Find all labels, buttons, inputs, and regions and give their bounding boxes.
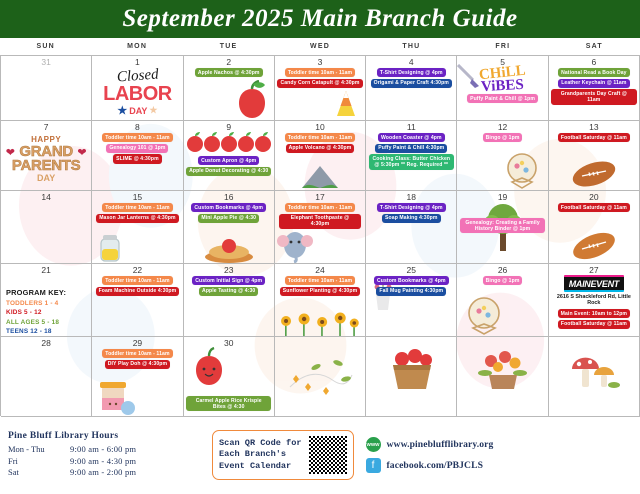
hours-time: 9:00 am - 4:30 pm: [70, 456, 136, 468]
day-number: 12: [498, 122, 507, 132]
day-events: T-Shirt Designing @ 4pm Soap Making 4:30…: [368, 203, 454, 223]
day-cell[interactable]: 12 Bingo @ 1pm: [457, 121, 548, 191]
day-number: 17: [315, 192, 324, 202]
facebook-link[interactable]: f facebook.com/PBJCLS: [366, 458, 494, 473]
day-events: Genealogy: Creating a Family History Bin…: [459, 218, 545, 233]
day-cell[interactable]: 5 CHiLL ViBES Puffy Paint & Chill @ 1pm: [457, 56, 548, 121]
event-pill[interactable]: Leather Keychain @ 11am: [558, 79, 629, 88]
day-cell[interactable]: 24 Toddler time 10am - 11am Sunflower Pl…: [275, 264, 366, 337]
hours-day: Mon - Thu: [8, 444, 70, 456]
qr-instruction-text: Scan QR Code for Each Branch's Event Cal…: [219, 438, 302, 473]
event-pill[interactable]: Genealogy: Creating a Family History Bin…: [460, 218, 545, 233]
event-pill[interactable]: Soap Making 4:30pm: [382, 214, 440, 223]
day-cell[interactable]: 15 Toddler time 10am - 11am Mason Jar La…: [92, 191, 183, 264]
event-pill[interactable]: National Read a Book Day: [558, 68, 630, 77]
facebook-url: facebook.com/PBJCLS: [387, 460, 484, 471]
day-cell[interactable]: 31: [1, 56, 92, 121]
qr-line-1: Scan QR Code for: [219, 438, 302, 450]
day-number: 31: [41, 57, 50, 67]
day-events: Toddler time 10am - 11am Mason Jar Lante…: [94, 203, 180, 223]
fall-flowers-icon: [475, 347, 531, 391]
event-pill[interactable]: Custom Bookmarks @ 4pm: [374, 276, 449, 285]
event-pill[interactable]: T-Shirt Designing @ 4pm: [377, 68, 446, 77]
weekday-tue: TUE: [183, 43, 274, 50]
program-key: PROGRAM KEY: TODDLERS 1 - 4 KIDS 5 - 12 …: [6, 288, 92, 337]
event-pill[interactable]: Wooden Coaster @ 4pm: [378, 133, 445, 142]
mushrooms-icon: [568, 349, 620, 393]
day-number: 13: [589, 122, 598, 132]
event-pill[interactable]: SLIME @ 4:30pm: [113, 154, 162, 163]
day-number: 16: [224, 192, 233, 202]
falling-leaves-icon: [282, 353, 358, 397]
weekday-mon: MON: [91, 43, 182, 50]
event-pill[interactable]: T-Shirt Designing @ 4pm: [377, 203, 446, 212]
day-events: Apple Nachos @ 4:30pm: [186, 68, 272, 77]
qr-code-callout[interactable]: Scan QR Code for Each Branch's Event Cal…: [212, 430, 354, 480]
event-pill[interactable]: Football Saturday @ 11am: [558, 203, 630, 212]
day-cell[interactable]: 8 Toddler time 10am - 11am Genealogy 101…: [92, 121, 183, 191]
football-icon: [570, 160, 618, 188]
day-events: Toddler time 10am - 11am DIY Play Doh @ …: [94, 349, 180, 369]
star-icon: ★: [117, 104, 127, 117]
hours-time: 9:00 am - 6:00 pm: [70, 444, 136, 456]
apple-basket-icon: [385, 343, 437, 393]
day-cell[interactable]: 11 Wooden Coaster @ 4pm Puffy Paint & Ch…: [366, 121, 457, 191]
program-key-item-toddlers: TODDLERS 1 - 4: [6, 299, 92, 308]
day-number: 24: [315, 265, 324, 275]
hours-row: Mon - Thu 9:00 am - 6:00 pm: [8, 444, 204, 456]
event-pill[interactable]: Toddler time 10am - 11am: [102, 203, 172, 212]
day-events: Football Saturday @ 11am: [551, 133, 637, 142]
labor-day-day: DAY: [129, 106, 147, 116]
event-pill[interactable]: Football Saturday @ 11am: [558, 133, 630, 142]
day-number: 1: [135, 57, 140, 67]
website-link[interactable]: WWW www.pineblufflibrary.org: [366, 437, 494, 452]
event-pill[interactable]: Grandparents Day Craft @ 11am: [551, 89, 636, 104]
event-pill[interactable]: Custom Apron @ 4pm: [198, 156, 259, 165]
day-cell[interactable]: 17 Toddler time 10am - 11am Elephant Too…: [275, 191, 366, 264]
day-number: 19: [498, 192, 507, 202]
day-events: Custom Bookmarks @ 4pm Fall Mug Painting…: [368, 276, 454, 296]
day-cell[interactable]: 3 Toddler time 10am - 11am Candy Corn Ca…: [275, 56, 366, 121]
event-pill[interactable]: Fall Mug Painting 4:30pm: [376, 287, 446, 296]
event-pill[interactable]: Main Event: 10am to 12pm: [558, 309, 630, 318]
day-number: 22: [133, 265, 142, 275]
sunflowers-icon: [275, 310, 365, 336]
event-pill[interactable]: Toddler time 10am - 11am: [285, 276, 355, 285]
facebook-icon: f: [366, 458, 381, 473]
day-number: 20: [589, 192, 598, 202]
event-pill[interactable]: Puffy Paint & Chill @ 1pm: [467, 94, 538, 103]
program-key-item-kids: KIDS 5 - 12: [6, 308, 92, 317]
weekday-thu: THU: [366, 43, 457, 50]
week-row: 28 29 Toddler time 10am - 11am DIY Play …: [1, 337, 640, 417]
week-row: 7 HAPPY ❤ GRAND ❤ PARENTS DAY 8 Toddler …: [1, 121, 640, 191]
day-number: 30: [224, 338, 233, 348]
day-number: 4: [409, 57, 414, 67]
week-row: 14 15 Toddler time 10am - 11am Mason Jar…: [1, 191, 640, 264]
day-cell[interactable]: [549, 337, 640, 417]
week-row: 31 1 Closed LABOR ★ DAY ★ 2 Apple Nachos…: [1, 56, 640, 121]
day-cell[interactable]: 22 Toddler time 10am - 11am Foam Machine…: [92, 264, 183, 337]
weekday-sat: SAT: [549, 43, 640, 50]
day-cell[interactable]: 16 Custom Bookmarks @ 4pm Mini Apple Pie…: [184, 191, 275, 264]
event-pill[interactable]: Bingo @ 1pm: [483, 133, 523, 142]
program-key-title: PROGRAM KEY:: [6, 288, 92, 297]
day-cell[interactable]: 14: [1, 191, 92, 264]
event-pill[interactable]: Mason Jar Lanterns @ 4:30pm: [96, 214, 178, 223]
grandparents-day-graphic: HAPPY ❤ GRAND ❤ PARENTS DAY: [6, 134, 87, 184]
event-pill[interactable]: Sunflower Planting @ 4:30pm: [280, 287, 360, 296]
event-pill[interactable]: Puffy Paint & Chill 4:30pm: [375, 144, 447, 153]
day-number: 15: [133, 192, 142, 202]
day-events: Toddler time 10am - 11am Candy Corn Cata…: [277, 68, 363, 88]
event-pill[interactable]: Toddler time 10am - 11am: [285, 133, 355, 142]
day-number: 28: [41, 338, 50, 348]
week-row: 21 PROGRAM KEY: TODDLERS 1 - 4 KIDS 5 - …: [1, 264, 640, 337]
page-footer: Pine Bluff Library Hours Mon - Thu 9:00 …: [0, 416, 640, 494]
event-pill[interactable]: Apple Tasting @ 4:30: [199, 287, 258, 296]
day-number: 9: [226, 122, 231, 132]
event-pill[interactable]: Carmel Apple Rice Krispie Bites @ 4:30: [186, 396, 271, 411]
page-title: September 2025 Main Branch Guide: [122, 5, 517, 33]
qr-line-2: Each Branch's: [219, 449, 302, 461]
labor-day-closed-text: Closed: [116, 67, 159, 87]
day-number: 29: [133, 338, 142, 348]
candy-corn-icon: [329, 89, 363, 119]
day-events: Toddler time 10am - 11am Apple Volcano @…: [277, 133, 363, 153]
event-pill[interactable]: DIY Play Doh @ 4:30pm: [105, 360, 170, 369]
day-cell[interactable]: [366, 337, 457, 417]
event-pill[interactable]: Toddler time 10am - 11am: [102, 349, 172, 358]
day-events: Main Event: 10am to 12pm Football Saturd…: [551, 309, 637, 329]
social-links: WWW www.pineblufflibrary.org f facebook.…: [366, 437, 494, 473]
day-cell[interactable]: 27 MAINEVENT 2616 S Shackleford Rd, Litt…: [549, 264, 640, 337]
day-events: Bingo @ 1pm: [459, 276, 545, 285]
event-pill[interactable]: Toddler time 10am - 11am: [285, 203, 355, 212]
hours-day: Fri: [8, 456, 70, 468]
day-number: 8: [135, 122, 140, 132]
hours-row: Fri 9:00 am - 4:30 pm: [8, 456, 204, 468]
day-cell[interactable]: 18 T-Shirt Designing @ 4pm Soap Making 4…: [366, 191, 457, 264]
day-number: 7: [44, 122, 49, 132]
star-icon: ★: [149, 105, 157, 116]
program-key-item-all-ages: ALL AGES 5 - 18: [6, 318, 92, 327]
day-cell[interactable]: 26 Bingo @ 1pm: [457, 264, 548, 337]
day-number: 21: [41, 265, 50, 275]
day-number: 23: [224, 265, 233, 275]
day-events: Toddler time 10am - 11am Foam Machine Ou…: [94, 276, 180, 296]
event-pill[interactable]: Toddler time 10am - 11am: [285, 68, 355, 77]
event-pill[interactable]: Apple Volcano @ 4:30pm: [286, 144, 355, 153]
day-events: Toddler time 10am - 11am Elephant Toothp…: [277, 203, 363, 229]
day-cell[interactable]: [457, 337, 548, 417]
day-events: Toddler time 10am - 11am Genealogy 101 @…: [94, 133, 180, 164]
day-cell[interactable]: 4 T-Shirt Designing @ 4pm Origami & Pape…: [366, 56, 457, 121]
event-pill[interactable]: Bingo @ 1pm: [483, 276, 523, 285]
apple-pie-icon: [203, 237, 255, 263]
apple-icon: [231, 80, 273, 120]
day-events: Toddler time 10am - 11am Sunflower Plant…: [277, 276, 363, 296]
website-url: www.pineblufflibrary.org: [387, 439, 494, 450]
day-cell[interactable]: 1 Closed LABOR ★ DAY ★: [92, 56, 183, 121]
day-events: Carmel Apple Rice Krispie Bites @ 4:30: [186, 396, 272, 411]
day-number: 27: [589, 265, 598, 275]
bingo-cage-icon: [502, 152, 542, 190]
day-events: T-Shirt Designing @ 4pm Origami & Paper …: [368, 68, 454, 88]
library-hours: Pine Bluff Library Hours Mon - Thu 9:00 …: [8, 431, 204, 479]
day-events: Bingo @ 1pm: [459, 133, 545, 142]
event-pill[interactable]: Apple Donut Decorating @ 4:30: [186, 167, 271, 176]
day-cell[interactable]: 29 Toddler time 10am - 11am DIY Play Doh…: [92, 337, 183, 417]
day-events: Puffy Paint & Chill @ 1pm: [459, 94, 545, 103]
grandparents-line2: PARENTS: [6, 159, 87, 173]
hours-row: Sat 9:00 am - 2:00 pm: [8, 467, 204, 479]
chill-vibes-line2: ViBES: [481, 79, 524, 94]
event-pill[interactable]: Candy Corn Catapult @ 4:30pm: [277, 79, 362, 88]
day-cell[interactable]: 20 Football Saturday @ 11am: [549, 191, 640, 264]
day-cell[interactable]: 19 Genealogy: Creating a Family History …: [457, 191, 548, 264]
football-icon: [570, 231, 618, 261]
day-cell[interactable]: 23 Custom Initial Sign @ 4pm Apple Tasti…: [184, 264, 275, 337]
day-number: 2: [226, 57, 231, 67]
day-number: 3: [318, 57, 323, 67]
day-cell[interactable]: 10 Toddler time 10am - 11am Apple Volcan…: [275, 121, 366, 191]
weekday-sun: SUN: [0, 43, 91, 50]
day-cell[interactable]: 2 Apple Nachos @ 4:30pm: [184, 56, 275, 121]
day-number: 14: [41, 192, 50, 202]
page-header: September 2025 Main Branch Guide: [0, 0, 640, 38]
elephant-icon: [276, 225, 314, 263]
day-number: 11: [407, 122, 416, 132]
globe-icon: WWW: [366, 437, 381, 452]
calendar-grid: 31 1 Closed LABOR ★ DAY ★ 2 Apple Nachos…: [0, 55, 640, 416]
day-events: Custom Bookmarks @ 4pm Mini Apple Pie @ …: [186, 203, 272, 223]
day-cell[interactable]: 21 PROGRAM KEY: TODDLERS 1 - 4 KIDS 5 - …: [1, 264, 92, 337]
grandparents-day: DAY: [6, 173, 87, 184]
day-number: 18: [407, 192, 416, 202]
play-doh-icon: [94, 372, 138, 416]
main-event-address: 2616 S Shackleford Rd, Little Rock: [551, 294, 637, 307]
apples-row-icon: [186, 131, 272, 153]
event-pill[interactable]: Toddler time 10am - 11am: [102, 276, 172, 285]
day-cell[interactable]: 28: [1, 337, 92, 417]
day-events: Custom Initial Sign @ 4pm Apple Tasting …: [186, 276, 272, 296]
qr-code-icon[interactable]: [309, 436, 347, 474]
event-pill[interactable]: Toddler time 10am - 11am: [102, 133, 172, 142]
weekday-fri: FRI: [457, 43, 548, 50]
event-pill[interactable]: Origami & Paper Craft 4:30pm: [371, 79, 452, 88]
day-cell[interactable]: 25 Custom Bookmarks @ 4pm Fall Mug Paint…: [366, 264, 457, 337]
mason-jar-icon: [96, 231, 124, 263]
day-number: 25: [407, 265, 416, 275]
day-cell[interactable]: 13 Football Saturday @ 11am: [549, 121, 640, 191]
event-pill[interactable]: Cooking Class: Butter Chicken @ 5:30pm *…: [369, 154, 454, 169]
event-pill[interactable]: Genealogy 101 @ 1pm: [106, 144, 168, 153]
hours-time: 9:00 am - 2:00 pm: [70, 467, 136, 479]
main-event-logo: MAINEVENT: [564, 275, 624, 292]
weekday-header-row: SUN MON TUE WED THU FRI SAT: [0, 38, 640, 55]
event-pill[interactable]: Foam Machine Outside 4:30pm: [96, 287, 180, 296]
apple-icon: [188, 347, 230, 387]
day-number: 26: [498, 265, 507, 275]
labor-day-row: ★ DAY ★: [117, 104, 157, 117]
event-pill[interactable]: Apple Nachos @ 4:30pm: [195, 68, 263, 77]
day-cell[interactable]: 6 National Read a Book Day Leather Keych…: [549, 56, 640, 121]
event-pill[interactable]: Elephant Toothpaste @ 4:30pm: [279, 214, 360, 229]
day-events: Custom Apron @ 4pm Apple Donut Decoratin…: [186, 156, 272, 176]
day-cell[interactable]: 7 HAPPY ❤ GRAND ❤ PARENTS DAY: [1, 121, 92, 191]
qr-line-3: Event Calendar: [219, 461, 302, 473]
day-cell[interactable]: 9 Custom Apron @ 4pm Apple Donut Decorat…: [184, 121, 275, 191]
event-pill[interactable]: Custom Bookmarks @ 4pm: [191, 203, 266, 212]
hours-day: Sat: [8, 467, 70, 479]
event-pill[interactable]: Custom Initial Sign @ 4pm: [192, 276, 265, 285]
day-cell[interactable]: 30 Carmel Apple Rice Krispie Bites @ 4:3…: [184, 337, 275, 417]
day-number: 6: [591, 57, 596, 67]
event-pill[interactable]: Football Saturday @ 11am: [558, 320, 630, 329]
day-events: National Read a Book Day Leather Keychai…: [551, 68, 637, 105]
weekday-wed: WED: [274, 43, 365, 50]
day-number: 5: [500, 57, 505, 67]
main-event-logo-event: EVENT: [590, 279, 619, 289]
program-key-item-teens: TEENS 12 - 18: [6, 327, 92, 336]
main-event-logo-main: MAIN: [569, 279, 591, 289]
day-cell[interactable]: [275, 337, 366, 417]
library-hours-title: Pine Bluff Library Hours: [8, 431, 204, 441]
day-number: 10: [315, 122, 324, 132]
labor-day-word: LABOR: [103, 85, 172, 104]
event-pill[interactable]: Mini Apple Pie @ 4:30: [198, 214, 259, 223]
day-events: Football Saturday @ 11am: [551, 203, 637, 212]
bingo-cage-icon: [463, 296, 505, 336]
day-events: Wooden Coaster @ 4pm Puffy Paint & Chill…: [368, 133, 454, 170]
volcano-icon: [298, 164, 342, 190]
